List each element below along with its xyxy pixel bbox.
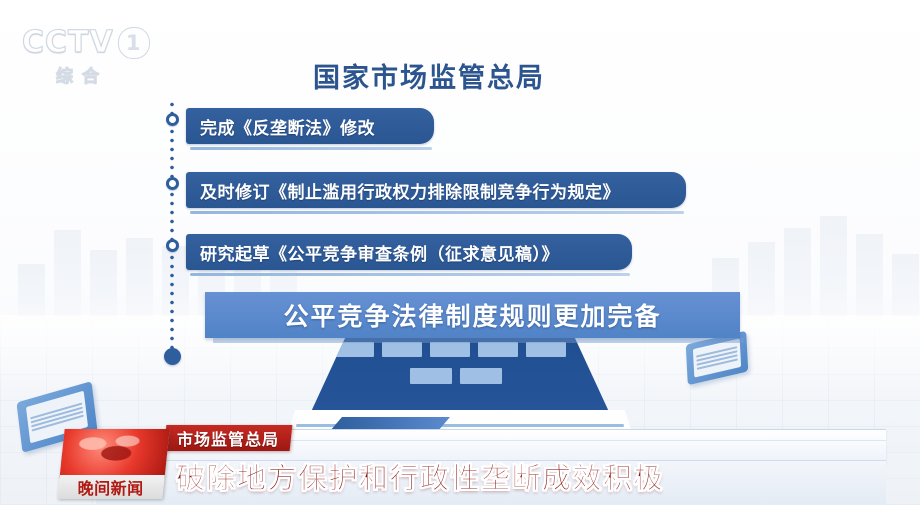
timeline-item-label: 完成《反垄断法》修改 — [200, 114, 375, 139]
background-bar-chart-right — [712, 196, 919, 316]
timeline-item-underline — [190, 273, 630, 276]
timeline-item: 及时修订《制止滥用行政权力排除限制竞争行为规定》 — [186, 172, 686, 208]
timeline-item-underline — [190, 147, 432, 150]
timeline-node — [166, 113, 179, 126]
program-logo: 晚间新闻 — [57, 429, 169, 499]
timeline-node — [166, 177, 179, 190]
channel-number: 1 — [118, 27, 150, 59]
page-title: 国家市场监管总局 — [313, 56, 545, 95]
road-marker — [460, 368, 502, 384]
globe-icon — [57, 429, 169, 479]
conclusion-banner: 公平竞争法律制度规则更加完备 — [205, 292, 740, 338]
timeline-end-dot — [164, 348, 181, 365]
road-marker — [410, 368, 452, 384]
road-marker — [526, 342, 566, 357]
road-marker — [382, 342, 422, 357]
timeline-item-label: 研究起草《公平竞争审查条例（征求意见稿）》 — [200, 240, 559, 265]
timeline-item-box: 研究起草《公平竞争审查条例（征求意见稿）》 — [186, 234, 632, 270]
timeline-dotted-line — [170, 100, 174, 356]
road-marker — [334, 342, 374, 357]
source-tag: 市场监管总局 — [164, 425, 293, 451]
conclusion-banner-shadow — [213, 338, 744, 343]
program-name: 晚间新闻 — [78, 475, 144, 499]
program-name-plate: 晚间新闻 — [57, 475, 165, 499]
lower-third: 市场监管总局 破除地方保护和行政性垄断成效积极 晚间新闻 — [0, 393, 920, 505]
timeline-item-box: 及时修订《制止滥用行政权力排除限制竞争行为规定》 — [186, 172, 686, 208]
timeline-item-label: 及时修订《制止滥用行政权力排除限制竞争行为规定》 — [200, 178, 620, 203]
timeline-item: 研究起草《公平竞争审查条例（征求意见稿）》 — [186, 234, 632, 270]
timeline-node — [166, 239, 179, 252]
timeline-item-box: 完成《反垄断法》修改 — [186, 108, 434, 144]
cctv-logo-text: CCTV — [22, 26, 114, 60]
timeline-item: 完成《反垄断法》修改 — [186, 108, 434, 144]
road-marker — [478, 342, 518, 357]
channel-sub-label: 综合 — [56, 62, 162, 87]
cctv1-logo: CCTV 1 综合 — [22, 26, 162, 88]
conclusion-text: 公平竞争法律制度规则更加完备 — [283, 297, 661, 333]
news-headline: 破除地方保护和行政性垄断成效积极 — [176, 455, 664, 497]
timeline-item-underline — [190, 211, 684, 214]
broadcast-screen: CCTV 1 综合 国家市场监管总局 完成《反垄断法》修改及时修订《制止滥用行政… — [0, 0, 920, 505]
source-tag-label: 市场监管总局 — [177, 426, 279, 450]
road-marker — [430, 342, 470, 357]
